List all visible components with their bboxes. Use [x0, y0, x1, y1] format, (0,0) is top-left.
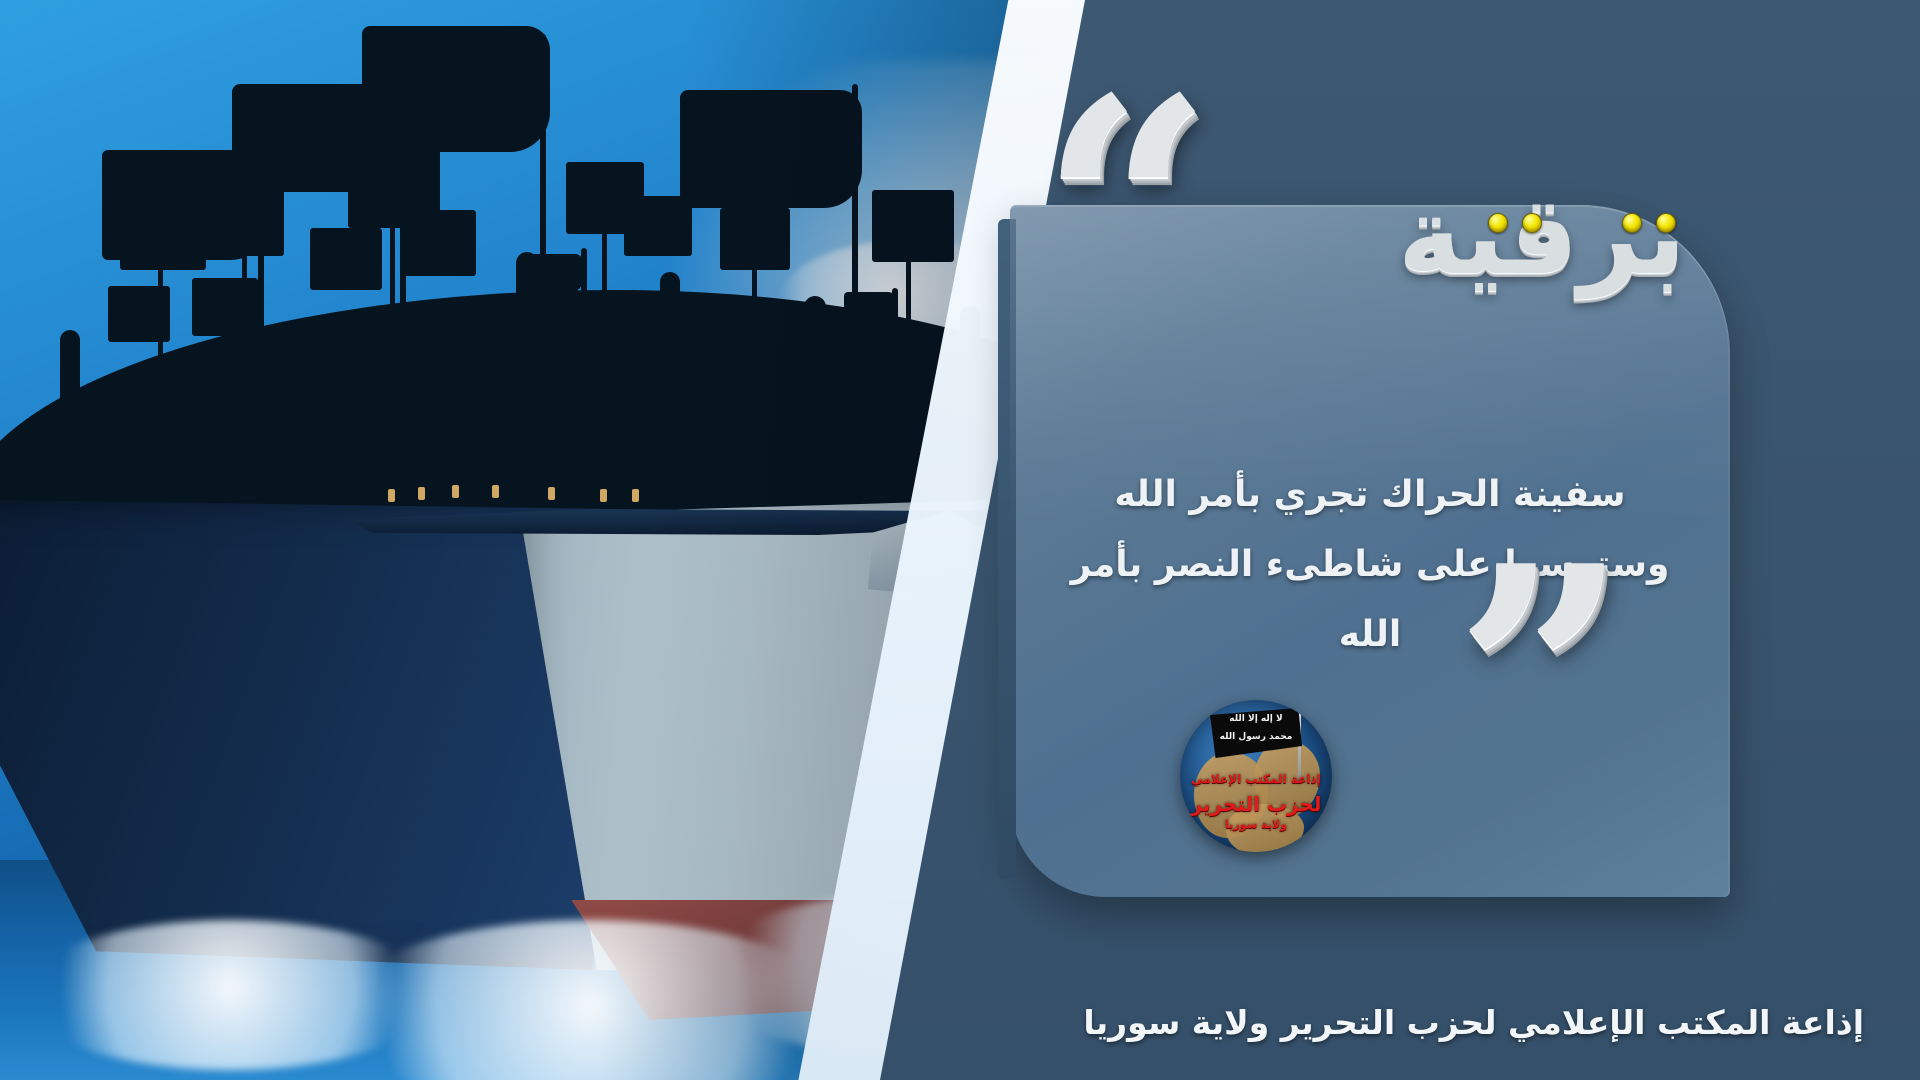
closing-quote-mark: ” [1455, 560, 1628, 794]
opening-quote-mark: “ [1040, 92, 1213, 326]
placard-silhouette [400, 210, 476, 276]
deck-light [492, 485, 499, 498]
placard-silhouette [120, 200, 206, 270]
gem-dot [1522, 213, 1542, 233]
banner-line-1: لا إله إلا الله [1210, 714, 1302, 724]
deck-light [600, 489, 607, 502]
title-gem-dots [1488, 213, 1676, 233]
poster-canvas: برقية سفينة الحراك تجري بأمر الله وسترسو… [0, 0, 1920, 1080]
deck-light [452, 485, 459, 498]
placard-silhouette [108, 286, 170, 342]
deck-light [548, 487, 555, 500]
deck-light [418, 487, 425, 500]
gem-dot [1622, 213, 1642, 233]
page-title: برقية [1398, 183, 1686, 291]
gem-dot [1656, 213, 1676, 233]
organization-logo: لا إله إلا الله محمد رسول الله إذاعة الم… [1180, 700, 1332, 852]
placard-silhouette [720, 208, 790, 270]
placard-silhouette [206, 186, 284, 256]
logo-line-3: ولاية سوريا [1180, 818, 1332, 831]
placard-silhouette [624, 196, 692, 256]
deck-light [632, 489, 639, 502]
footer-credit: إذاعة المكتب الإعلامي لحزب التحرير ولاية… [1083, 1003, 1864, 1042]
placard-silhouette [310, 228, 382, 290]
logo-line-2: لحزب التحرير [1180, 792, 1332, 816]
gem-dot [1488, 213, 1508, 233]
placard-silhouette [192, 278, 258, 336]
banner-line-2: محمد رسول الله [1210, 732, 1302, 742]
placard-silhouette [872, 190, 954, 262]
deck-light [388, 489, 395, 502]
logo-line-1: إذاعة المكتب الإعلامي [1180, 772, 1332, 786]
